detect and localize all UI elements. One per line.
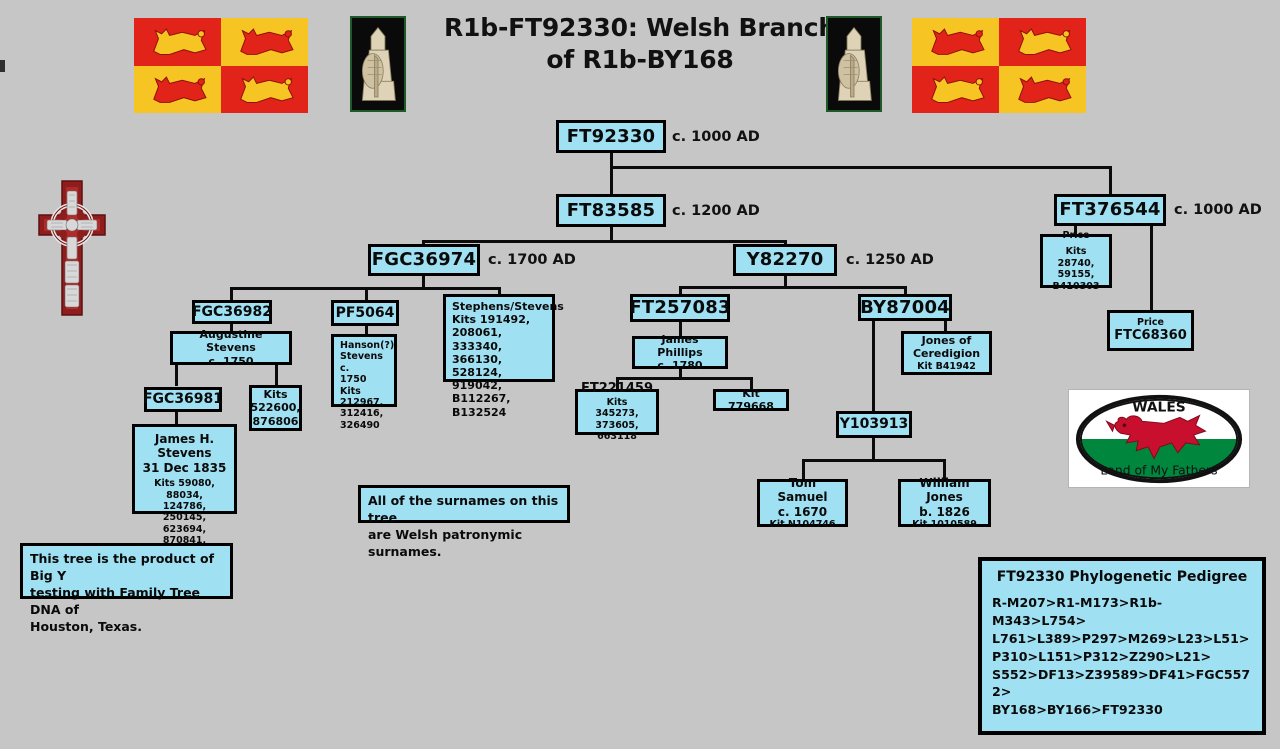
node-augustine-stevens[interactable]: Augustine Stevens c. 1750 — [170, 331, 292, 365]
node-line-2: Stevens c. — [340, 351, 388, 374]
page-title: R1b-FT92330: Welsh Branch of R1b-BY168 — [380, 12, 900, 76]
connector — [175, 411, 178, 425]
age-label-ft92330: c. 1000 AD — [672, 129, 760, 145]
node-line-1: Price — [1137, 317, 1164, 328]
connector — [275, 364, 278, 386]
node-line-1: Augustine Stevens — [179, 328, 283, 354]
node-fgc36974[interactable]: FGC36974 — [368, 244, 480, 276]
node-label: FGC36974 — [372, 249, 477, 271]
node-line-1: James Phillips — [641, 333, 719, 359]
node-kit-779668[interactable]: Kit 779668 — [713, 389, 789, 411]
note-line-1: All of the surnames on this tree — [368, 493, 560, 527]
node-line-2: c. 1670 — [778, 505, 827, 519]
node-line-3: 876806 — [253, 415, 299, 428]
connector — [872, 437, 875, 461]
node-price-kits[interactable]: Price Kits 28740, 59155, B410303 — [1040, 234, 1112, 288]
sticker-top-text: WALES — [1132, 400, 1186, 416]
node-label: FT376544 — [1059, 199, 1160, 221]
node-fgc36982[interactable]: FGC36982 — [192, 300, 272, 324]
node-tom-samuel[interactable]: Tom Samuel c. 1670 Kit N104746 — [757, 479, 848, 527]
node-line-2: 522600, — [250, 401, 300, 414]
node-ft83585[interactable]: FT83585 — [556, 194, 666, 227]
node-line-2: FTC68360 — [1114, 328, 1187, 344]
node-stephens-stevens[interactable]: Stephens/Stevens Kits 191492, 208061, 33… — [443, 294, 555, 382]
node-line-1: Tom Samuel — [766, 476, 839, 505]
connector — [944, 320, 947, 331]
node-line-3: Kit B41942 — [917, 361, 976, 372]
age-label-fgc36974: c. 1700 AD — [488, 252, 576, 268]
note-line-2: are Welsh patronymic surnames. — [368, 527, 560, 561]
node-ft221459[interactable]: FT221459 Kits 345273, 373605, 663118 — [575, 389, 659, 435]
node-line-4: 124786, 250145, — [141, 501, 228, 524]
node-line-2: Kits 191492, 208061, — [452, 313, 546, 339]
node-label: BY87004 — [860, 297, 950, 319]
node-ft92330[interactable]: FT92330 — [556, 120, 666, 153]
pedigree-line-5: BY168>BY166>FT92330 — [992, 701, 1252, 719]
node-line-3: 373605, 663118 — [584, 420, 650, 443]
node-line-4: Kits 212967, — [340, 386, 388, 409]
node-label: FT83585 — [567, 200, 656, 222]
lewis-chessman-right-icon — [826, 16, 882, 112]
connector — [230, 287, 233, 301]
node-line-1: Kits — [263, 388, 287, 401]
pedigree-line-1: R-M207>R1-M173>R1b-M343>L754> — [992, 594, 1252, 630]
edge-artifact — [0, 60, 5, 72]
node-line-2: Kits 345273, — [584, 397, 650, 420]
node-line-2: 31 Dec 1835 — [143, 461, 227, 475]
connector — [610, 166, 1112, 169]
node-fgc36981[interactable]: FGC36981 — [144, 387, 222, 412]
node-label: Y103913 — [840, 416, 909, 433]
node-line-1: Stephens/Stevens — [452, 300, 564, 313]
note-line-2: testing with Family Tree DNA of — [30, 585, 223, 619]
pedigree-title: FT92330 Phylogenetic Pedigree — [992, 569, 1252, 585]
node-line-3: Kits 59080, 88034, — [141, 478, 228, 501]
node-line-5: 312416, — [340, 408, 383, 419]
node-label: FT92330 — [567, 126, 656, 148]
connector — [872, 320, 875, 413]
pedigree-line-4: S552>DF13>Z39589>DF41>FGC5572> — [992, 666, 1252, 702]
note-big-y-testing: This tree is the product of Big Y testin… — [20, 543, 233, 599]
node-ft257083[interactable]: FT257083 — [630, 294, 730, 322]
node-line-1: FT221459 — [581, 381, 653, 397]
node-label: Y82270 — [747, 249, 824, 271]
note-line-1: This tree is the product of Big Y — [30, 551, 223, 585]
node-line-1: Price — [1063, 230, 1090, 241]
node-label: FGC36982 — [192, 304, 272, 321]
node-y82270[interactable]: Y82270 — [733, 244, 837, 276]
node-kits-522600[interactable]: Kits 522600, 876806 — [249, 385, 302, 431]
node-william-jones[interactable]: William Jones b. 1826 Kit 1010589 — [898, 479, 991, 527]
sticker-bottom-text: Land of My Fathers — [1100, 463, 1217, 477]
phylogenetic-pedigree-panel: FT92330 Phylogenetic Pedigree R-M207>R1-… — [978, 557, 1266, 735]
node-line-5: B112267, B132524 — [452, 392, 546, 418]
note-welsh-surnames: All of the surnames on this tree are Wel… — [358, 485, 570, 523]
node-line-2: c. 1780 — [657, 359, 702, 372]
royal-arms-of-gwynedd-left-icon — [134, 18, 308, 113]
node-line-1: Kit 779668 — [722, 387, 780, 413]
node-line-2: Kits 28740, — [1049, 246, 1103, 269]
title-line-1: R1b-FT92330: Welsh Branch — [380, 12, 900, 44]
connector — [610, 166, 613, 194]
wales-sticker: WALES Land of My Fathers — [1068, 389, 1250, 488]
connector — [175, 364, 178, 386]
node-line-1: James H. Stevens — [141, 432, 228, 461]
node-line-2: Ceredigion — [913, 347, 980, 360]
node-line-4: 528124, 919042, — [452, 366, 546, 392]
title-line-2: of R1b-BY168 — [380, 44, 900, 76]
royal-arms-of-gwynedd-right-icon — [912, 18, 1086, 113]
node-line-3: 333340, 366130, — [452, 340, 546, 366]
connector — [365, 287, 368, 301]
node-line-1: William Jones — [907, 476, 982, 505]
connector — [679, 286, 906, 289]
node-label: PF5064 — [336, 305, 395, 322]
pedigree-line-3: P310>L151>P312>Z290>L21> — [992, 648, 1252, 666]
node-line-3: 1750 — [340, 374, 366, 385]
connector — [1109, 166, 1112, 194]
node-label: FT257083 — [629, 297, 730, 319]
node-james-h-stevens[interactable]: James H. Stevens 31 Dec 1835 Kits 59080,… — [132, 424, 237, 514]
node-price-ftc68360[interactable]: Price FTC68360 — [1107, 310, 1194, 351]
connector — [1150, 225, 1153, 310]
node-by87004[interactable]: BY87004 — [858, 294, 952, 321]
connector — [616, 377, 752, 380]
age-label-ft83585: c. 1200 AD — [672, 203, 760, 219]
connector — [422, 240, 787, 243]
node-james-phillips[interactable]: James Phillips c. 1780 — [632, 336, 728, 369]
age-label-y82270: c. 1250 AD — [846, 252, 934, 268]
node-label: FGC36981 — [143, 391, 223, 408]
node-jones-of-ceredigion[interactable]: Jones of Ceredigion Kit B41942 — [901, 331, 992, 375]
node-line-3: Kit 1010589 — [912, 519, 977, 530]
pedigree-line-2: L761>L389>P297>M269>L23>L51> — [992, 630, 1252, 648]
node-line-1: Hanson(?) — [340, 340, 394, 351]
note-line-3: Houston, Texas. — [30, 619, 223, 636]
celtic-cross-icon — [33, 175, 111, 320]
node-line-6: 326490 — [340, 420, 380, 431]
node-line-1: Jones of — [922, 334, 972, 347]
connector — [802, 459, 945, 462]
diagram-canvas: R1b-FT92330: Welsh Branch of R1b-BY168 — [0, 0, 1280, 749]
node-line-2: b. 1826 — [919, 505, 970, 519]
node-line-2: c. 1750 — [208, 355, 253, 368]
node-pf5064[interactable]: PF5064 — [331, 300, 399, 326]
node-y103913[interactable]: Y103913 — [836, 411, 912, 438]
node-hanson-stevens[interactable]: Hanson(?) Stevens c. 1750 Kits 212967, 3… — [331, 334, 397, 407]
lewis-chessman-left-icon — [350, 16, 406, 112]
age-label-ft376544: c. 1000 AD — [1174, 202, 1262, 218]
node-line-3: Kit N104746 — [769, 519, 835, 530]
node-line-3: 59155, B410303 — [1049, 269, 1103, 292]
node-ft376544[interactable]: FT376544 — [1054, 194, 1166, 226]
